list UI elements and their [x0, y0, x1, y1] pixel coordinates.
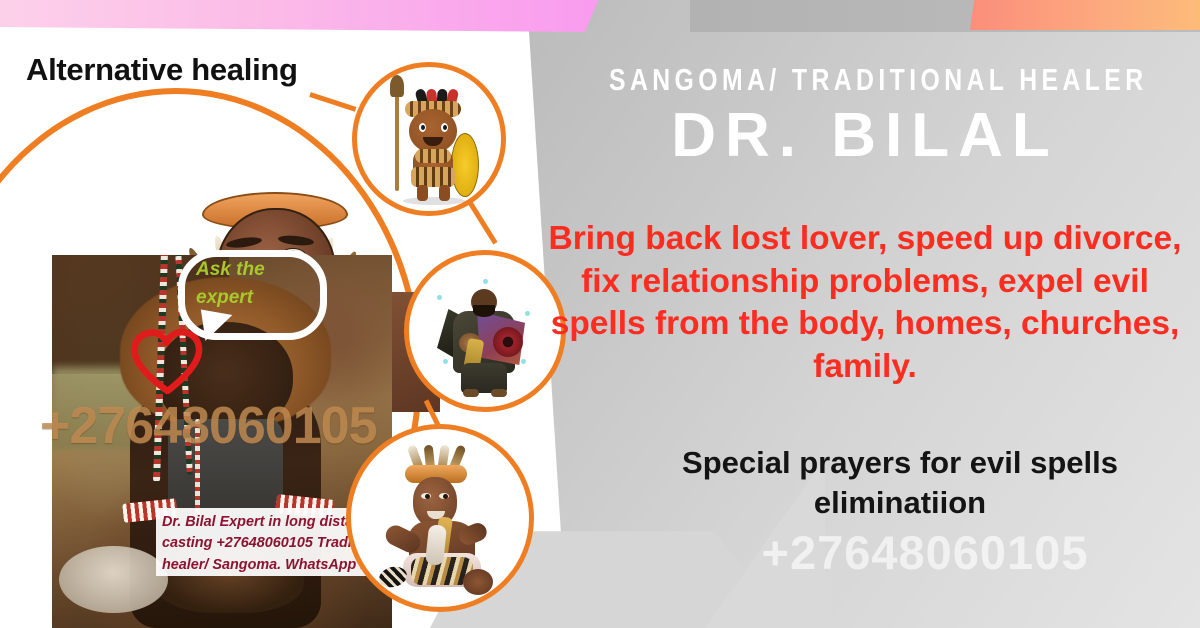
kicker-heading: SANGOMA/ TRADITIONAL HEALER: [609, 62, 1121, 98]
services-copy: Bring back lost lover, speed up divorce,…: [540, 218, 1190, 388]
zulu-warrior-icon: [357, 67, 501, 211]
cloaked-diviner-icon: [409, 255, 561, 407]
circle-crouching-healer: [346, 424, 534, 612]
page-title: Alternative healing: [26, 52, 298, 88]
special-prayers-copy: Special prayers for evil spells eliminat…: [620, 443, 1180, 524]
speech-bubble-label: Ask the expert: [196, 256, 316, 311]
top-orange-bar: [970, 0, 1200, 30]
circle-zulu-warrior: [352, 62, 506, 216]
crouching-healer-icon: [351, 429, 529, 607]
heart-icon: [129, 327, 204, 394]
phone-watermark: +27648060105: [660, 525, 1190, 580]
top-pink-bar: [0, 0, 600, 32]
doctor-name: DR. BILAL: [545, 100, 1185, 171]
poster-canvas: Alternative healing: [0, 0, 1200, 628]
